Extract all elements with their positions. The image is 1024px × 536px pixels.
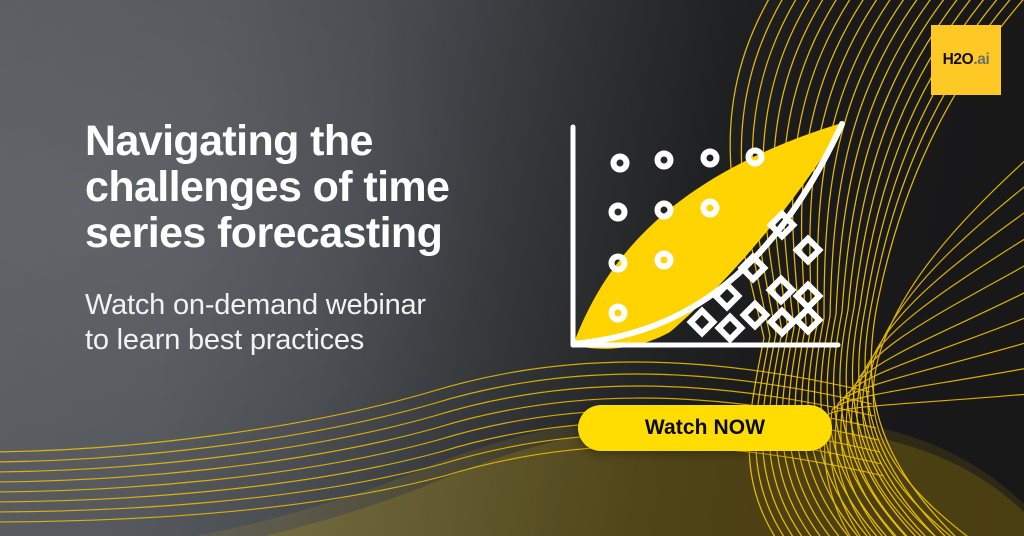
subheadline-line-2: to learn best practices <box>85 324 364 356</box>
watch-now-button[interactable]: Watch NOW <box>578 405 832 451</box>
logo-suffix-text: .ai <box>973 51 989 68</box>
subheadline: Watch on-demand webinar to learn best pr… <box>85 256 555 359</box>
headline: Navigating the challenges of time series… <box>85 118 555 256</box>
headline-line-1: Navigating the <box>85 117 373 165</box>
headline-line-2: challenges of time <box>85 163 449 211</box>
headline-line-3: series forecasting <box>85 209 442 257</box>
h2o-ai-logo[interactable]: H2O.ai <box>931 25 1001 95</box>
copy-block: Navigating the challenges of time series… <box>85 118 555 359</box>
logo-primary-text: H2O <box>943 51 974 68</box>
subheadline-line-1: Watch on-demand webinar <box>85 289 426 321</box>
forecasting-chart-illustration <box>550 100 880 380</box>
logo-text: H2O.ai <box>943 51 990 69</box>
webinar-promo-banner: Navigating the challenges of time series… <box>0 0 1024 536</box>
